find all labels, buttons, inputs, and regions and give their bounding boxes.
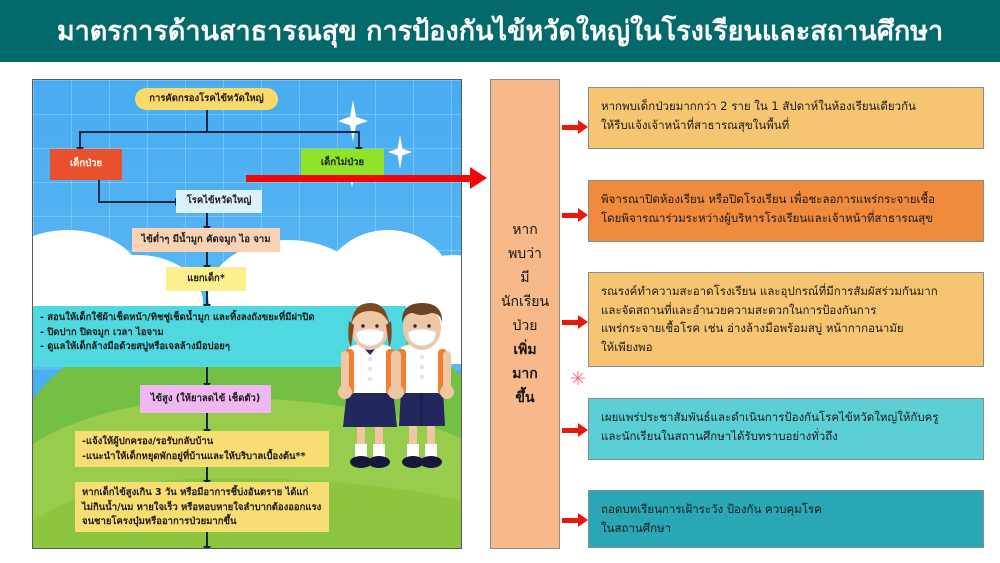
infographic-page: มาตรการด้านสาธารณสุข การป้องกันไข้หวัดให…: [0, 0, 1000, 563]
danger-line: จนชายโครงบุ๋มหรืออาการป่วยมากขึ้น: [82, 515, 322, 530]
measure-arrow-shaft: [562, 428, 579, 433]
flow-node-separate-child: แยกเด็ก*: [166, 267, 246, 291]
main-red-arrow-shaft: [246, 175, 471, 182]
center-line: มี: [520, 266, 529, 290]
measure-arrow-shaft: [562, 320, 579, 325]
flow-node-parent-notify: -แจ้งให้ผู้ปกครอง/รอรับกลับบ้าน -แนะนำให…: [75, 431, 329, 467]
parent-line: -แจ้งให้ผู้ปกครอง/รอรับกลับบ้าน: [82, 435, 322, 450]
flow-node-hospital: ส่งโรงพยาบาลหรือเจ้าหน้าที่สาธารณสุข: [105, 548, 305, 549]
danger-line: ไม่กินน้ำ/นม หายใจเร็ว หรือหอบหายใจลำบาก…: [82, 501, 322, 516]
flowchart-panel: การคัดกรองโรคไข้หวัดใหญ่ เด็กป่วย เด็กไม…: [32, 79, 462, 549]
center-line: หาก: [512, 218, 538, 242]
measure-arrow-head: [578, 513, 588, 527]
girl-figure: [338, 303, 402, 468]
asterisk-decoration-icon: ✳: [570, 372, 585, 387]
connector: [98, 180, 100, 202]
parent-line: -แนะนำให้เด็กหยุดพักอยู่ที่บ้านและให้บริ…: [82, 450, 322, 465]
measure-line: และนักเรียนในสถานศึกษาได้รับทราบอย่างทั่…: [601, 427, 971, 446]
measure-arrow-shaft: [562, 125, 579, 130]
students-illustration: [323, 295, 462, 510]
flow-node-label: เด็กป่วย: [70, 157, 102, 172]
flow-node-not-sick: เด็กไม่ป่วย: [301, 149, 384, 177]
connector: [206, 110, 208, 132]
measure-line: โดยพิจารณาร่วมระหว่างผู้บริหารโรงเรียนแล…: [601, 209, 971, 228]
measure-close-school: พิจารณาปิดห้องเรียน หรือปิดโรงเรียน เพื่…: [588, 180, 984, 242]
flow-node-label: แยกเด็ก*: [187, 272, 225, 287]
flow-node-label: ไข้สูง (ให้ยาลดไข้ เช็ดตัว): [151, 392, 260, 407]
center-line: นักเรียน: [501, 290, 549, 314]
flow-node-label: ไข้ต่ำๆ มีน้ำมูก คัดจมูก ไอ จาม: [142, 233, 271, 248]
measure-line: แพร่กระจายเชื้อโรค เช่น อ่างล้างมือพร้อม…: [601, 319, 971, 338]
center-line: ขึ้น: [515, 386, 534, 410]
flow-node-influenza: โรคไข้หวัดใหญ่: [176, 190, 262, 213]
measure-line: ให้รีบแจ้งเจ้าหน้าที่สาธารณสุขในพื้นที่: [601, 116, 971, 135]
flow-node-sick: เด็กป่วย: [50, 149, 122, 180]
measure-line: ในสถานศึกษา: [601, 519, 971, 538]
flow-node-screening: การคัดกรองโรคไข้หวัดใหญ่: [135, 88, 278, 110]
connector: [98, 201, 177, 203]
measure-arrow-shaft: [562, 518, 579, 523]
measure-arrow-shaft: [562, 213, 579, 218]
connector: [79, 131, 359, 133]
flow-node-label: การคัดกรองโรคไข้หวัดใหญ่: [149, 92, 264, 107]
measure-line: รณรงค์ทำความสะอาดโรงเรียน และอุปกรณ์ที่ม…: [601, 282, 971, 301]
measure-arrow-head: [578, 120, 588, 134]
flow-node-danger-signs: หากเด็กไข้สูงเกิน 3 วัน หรือมีอาการชี้บ่…: [75, 482, 329, 532]
measure-line: หากพบเด็กป่วยมากกว่า 2 ราย ใน 1 สัปดาห์ใ…: [601, 97, 971, 116]
measure-line: เผยแพร่ประชาสัมพันธ์และดำเนินการป้องกันโ…: [601, 408, 971, 427]
flow-node-label: โรคไข้หวัดใหญ่: [187, 194, 252, 209]
center-line: เพิ่ม: [513, 338, 536, 362]
center-condition-column: หาก พบว่า มี นักเรียน ป่วย เพิ่ม มาก ขึ้…: [490, 79, 560, 549]
measure-report: หากพบเด็กป่วยมากกว่า 2 ราย ใน 1 สัปดาห์ใ…: [588, 87, 984, 149]
boy-figure: [390, 303, 454, 468]
measure-communication: เผยแพร่ประชาสัมพันธ์และดำเนินการป้องกันโ…: [588, 398, 984, 460]
flow-node-label: เด็กไม่ป่วย: [321, 156, 364, 171]
main-red-arrow-head: [470, 167, 487, 189]
page-title: มาตรการด้านสาธารณสุข การป้องกันไข้หวัดให…: [57, 18, 943, 45]
measure-line: พิจารณาปิดห้องเรียน หรือปิดโรงเรียน เพื่…: [601, 190, 971, 209]
center-line: ป่วย: [513, 314, 538, 338]
measure-arrow-head: [578, 423, 588, 437]
flow-node-mild-symptoms: ไข้ต่ำๆ มีน้ำมูก คัดจมูก ไอ จาม: [132, 228, 280, 252]
measure-arrow-head: [578, 315, 588, 329]
center-line: พบว่า: [508, 242, 542, 266]
measure-line: และจัดสถานที่และอำนวยความสะดวกในการป้องก…: [601, 301, 971, 320]
danger-line: หากเด็กไข้สูงเกิน 3 วัน หรือมีอาการชี้บ่…: [82, 486, 322, 501]
center-line: มาก: [512, 362, 538, 386]
measure-line: ถอดบทเรียนการเฝ้าระวัง ป้องกัน ควบคุมโรค: [601, 500, 971, 519]
measure-arrow-head: [578, 208, 588, 222]
page-header: มาตรการด้านสาธารณสุข การป้องกันไข้หวัดให…: [0, 0, 1000, 62]
measure-cleaning: รณรงค์ทำความสะอาดโรงเรียน และอุปกรณ์ที่ม…: [588, 272, 984, 367]
measure-line: ให้เพียงพอ: [601, 338, 971, 357]
measure-lessons: ถอดบทเรียนการเฝ้าระวัง ป้องกัน ควบคุมโรค…: [588, 490, 984, 548]
flow-node-high-fever: ไข้สูง (ให้ยาลดไข้ เช็ดตัว): [140, 385, 271, 413]
